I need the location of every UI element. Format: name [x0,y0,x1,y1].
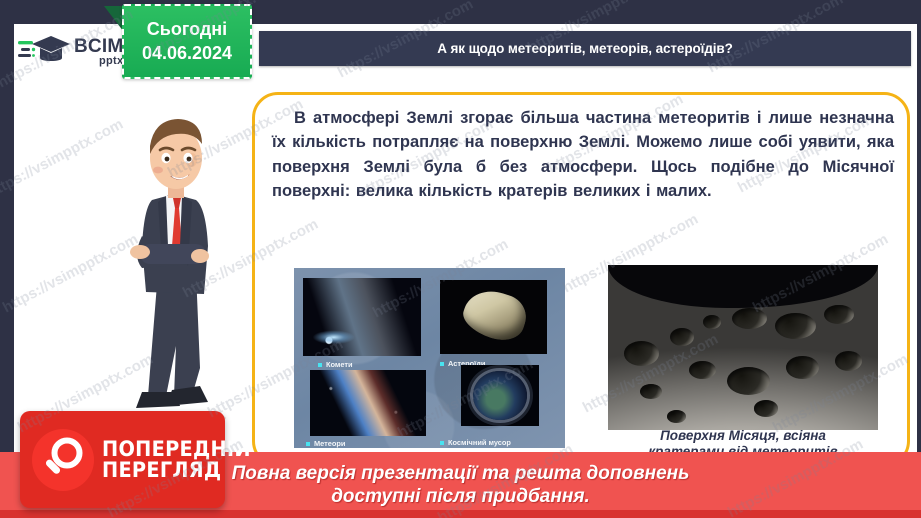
brand-logo-text: BCIM pptx [74,38,123,66]
body-paragraph: В атмосфері Землі згорає більша частина … [272,106,894,204]
moon-surface-photo [608,265,878,430]
purchase-banner-line2: доступні після придбання. [331,485,590,508]
slide-root: BCIM pptx Сьогодні 04.06.2024 А як щодо … [0,0,921,518]
today-date: 04.06.2024 [142,43,232,64]
slide-title-bar: А як щодо метеоритів, метеорів, астероїд… [259,31,911,66]
magnifier-icon [32,429,94,491]
preview-badge-label: ПОПЕРЕДНІЙ ПЕРЕГЛЯД [102,439,264,481]
collage-label-debris: Космічний мусор [440,438,511,447]
today-date-badge: Сьогодні 04.06.2024 [122,4,252,79]
collage-label-comet: Комети [318,360,353,369]
comet-photo [303,278,421,356]
brand-subtitle: pptx [74,56,123,66]
preview-badge-line2: ПЕРЕГЛЯД [102,460,251,481]
graduation-cap-icon [18,32,70,72]
businessman-illustration [96,96,256,426]
space-debris-photo [461,365,539,426]
space-objects-collage: Комети Астероїди Метеори Космічний мусор [294,268,565,448]
preview-badge-line1: ПОПЕРЕДНІЙ [102,439,251,460]
collage-label-meteor: Метеори [306,439,345,448]
slide-title: А як щодо метеоритів, метеорів, астероїд… [437,41,733,56]
brand-name: BCIM [74,38,123,55]
preview-badge[interactable]: ПОПЕРЕДНІЙ ПЕРЕГЛЯД [20,411,225,508]
today-label: Сьогодні [147,19,227,40]
asteroid-photo [440,280,547,354]
purchase-banner-line1: Повна версія презентації та решта доповн… [232,462,690,485]
meteor-photo [310,370,426,436]
banner-bottom-strip [0,510,921,518]
brand-logo: BCIM pptx [18,28,138,76]
moon-caption-line1: Поверхня Місяця, всіяна [608,428,878,444]
